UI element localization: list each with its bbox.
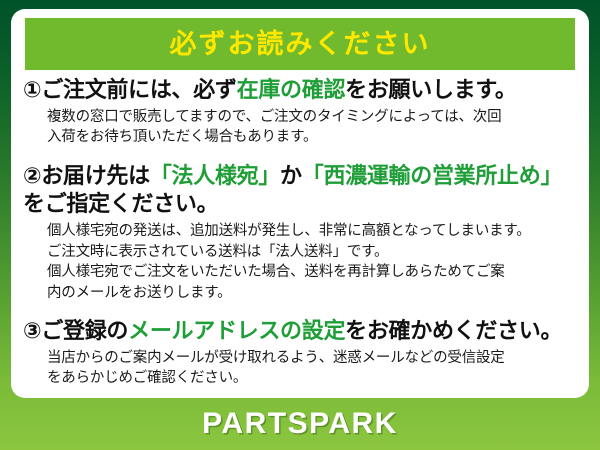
notice-item-3-marker: ③ bbox=[23, 318, 41, 343]
title-banner: 必ずお読みください bbox=[25, 18, 575, 70]
notice-item-3: ③ご登録のメールアドレスの設定をお確かめください。 当店からのご案内メールが受け… bbox=[21, 317, 581, 389]
notice-graphic: 必ずお読みください ①ご注文前には、必ず在庫の確認をお願いします。 複数の窓口で… bbox=[0, 0, 600, 450]
banner-title: 必ずお読みください bbox=[170, 31, 431, 58]
notice-item-1-part-1: 在庫の確認 bbox=[237, 77, 346, 102]
notice-item-3-part-1: メールアドレスの設定 bbox=[128, 318, 345, 343]
notice-item-1: ①ご注文前には、必ず在庫の確認をお願いします。 複数の窓口で販売してますので、ご… bbox=[21, 76, 581, 148]
notice-item-1-marker: ① bbox=[23, 77, 41, 102]
notice-item-1-body: 複数の窓口で販売してますので、ご注文のタイミングによっては、次回 入荷をお待ち頂… bbox=[21, 107, 581, 148]
brand-wordmark: PARTSPARK bbox=[202, 407, 398, 441]
notice-item-2-part-1: 「法人様宛」 bbox=[150, 163, 280, 188]
notice-item-2-heading: ②お届け先は「法人様宛」か「西濃運輸の営業所止め」をご指定ください。 bbox=[21, 162, 581, 219]
notice-item-2-part-3: 「西濃運輸の営業所止め」 bbox=[302, 163, 562, 188]
notice-item-3-part-0: ご登録の bbox=[41, 318, 128, 343]
notice-item-2-part-2: か bbox=[280, 163, 302, 188]
notice-item-3-body: 当店からのご案内メールが受け取れるよう、迷惑メールなどの受信設定 をあらかじめご… bbox=[21, 348, 581, 389]
notice-item-2-part-4: をご指定ください。 bbox=[23, 191, 218, 216]
notice-item-1-part-2: をお願いします。 bbox=[345, 77, 516, 102]
white-content-panel: 必ずお読みください ①ご注文前には、必ず在庫の確認をお願いします。 複数の窓口で… bbox=[11, 9, 589, 398]
notice-item-2-marker: ② bbox=[23, 163, 41, 188]
notice-item-2-part-0: お届け先は bbox=[41, 163, 150, 188]
notice-list: ①ご注文前には、必ず在庫の確認をお願いします。 複数の窓口で販売してますので、ご… bbox=[11, 75, 589, 393]
notice-item-1-part-0: ご注文前には、必ず bbox=[41, 77, 236, 102]
notice-item-3-part-2: をお確かめください。 bbox=[345, 318, 562, 343]
notice-item-2-body: 個人様宅宛の発送は、追加送料が発生し、非常に高額となってしまいます。 ご注文時に… bbox=[21, 221, 581, 303]
notice-item-3-heading: ③ご登録のメールアドレスの設定をお確かめください。 bbox=[21, 317, 581, 346]
notice-item-1-heading: ①ご注文前には、必ず在庫の確認をお願いします。 bbox=[21, 76, 581, 105]
footer-brand-bar: PARTSPARK bbox=[0, 398, 600, 450]
notice-item-2: ②お届け先は「法人様宛」か「西濃運輸の営業所止め」をご指定ください。 個人様宅宛… bbox=[21, 162, 581, 304]
